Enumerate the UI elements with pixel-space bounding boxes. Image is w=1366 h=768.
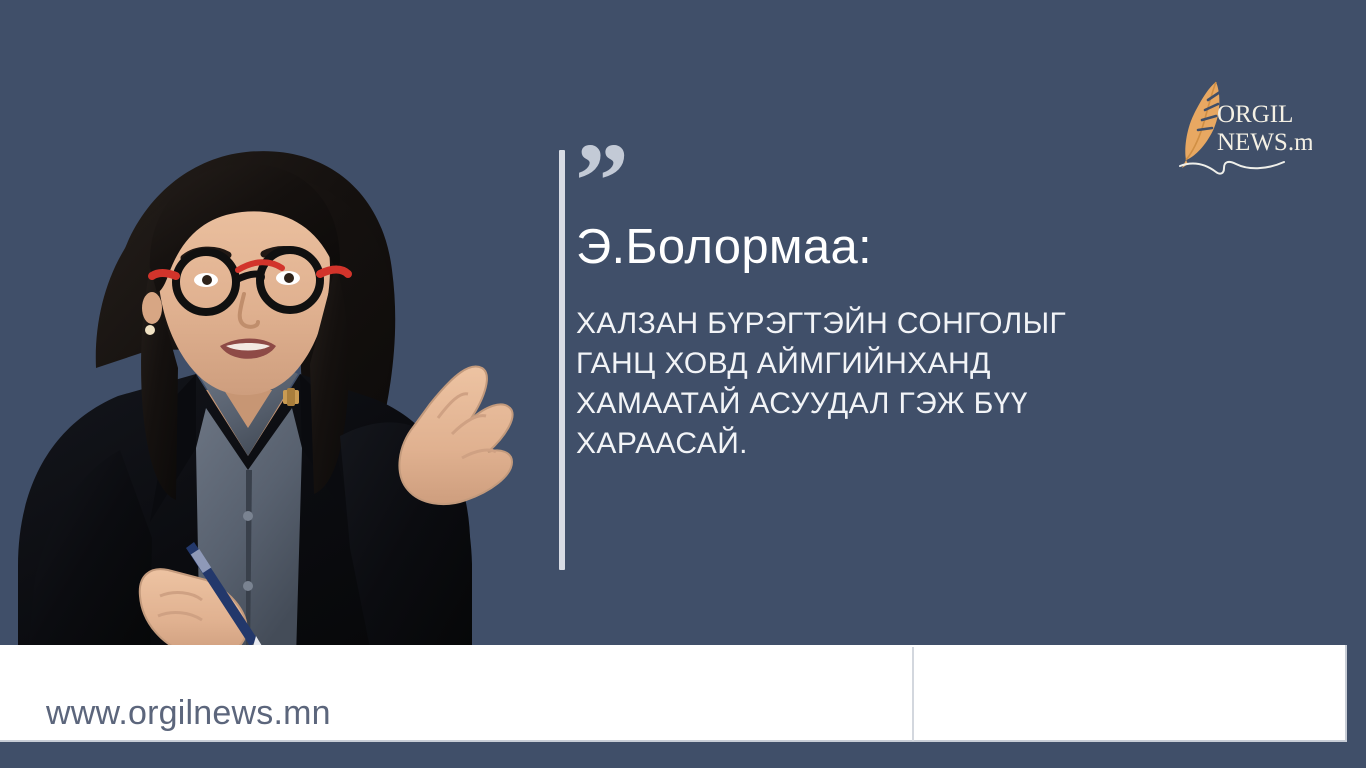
quote-vertical-rule xyxy=(559,150,565,570)
pupil-left xyxy=(202,275,212,285)
pupil-right xyxy=(284,273,294,283)
quote-body-text: ХАЛЗАН БҮРЭГТЭЙН СОНГОЛЫГ ГАНЦ ХОВД АЙМГ… xyxy=(576,304,1116,464)
logo-graphic: ORGIL NEWS.mn xyxy=(1172,74,1312,176)
hand-raised xyxy=(399,367,512,505)
lapel-pin-icon xyxy=(283,388,299,406)
shirt-button-1 xyxy=(243,511,253,521)
logo-text-line2: NEWS.mn xyxy=(1217,129,1312,156)
footer-divider xyxy=(912,647,914,741)
speaker-portrait-illustration xyxy=(0,118,540,658)
shirt-button-2 xyxy=(243,581,253,591)
logo-text-line1: ORGIL xyxy=(1217,101,1293,128)
ear-left xyxy=(142,292,162,324)
speaker-name: Э.Болормаа: xyxy=(576,219,872,275)
news-quote-card: ” Э.Болормаа: ХАЛЗАН БҮРЭГТЭЙН СОНГОЛЫГ … xyxy=(0,0,1366,768)
speaker-portrait xyxy=(0,118,540,658)
logo-swoosh xyxy=(1180,162,1284,174)
orgil-news-logo[interactable]: ORGIL NEWS.mn xyxy=(1172,74,1312,176)
footer-website-url[interactable]: www.orgilnews.mn xyxy=(46,694,331,733)
quill-feather-icon xyxy=(1182,82,1220,168)
earring xyxy=(145,325,155,335)
